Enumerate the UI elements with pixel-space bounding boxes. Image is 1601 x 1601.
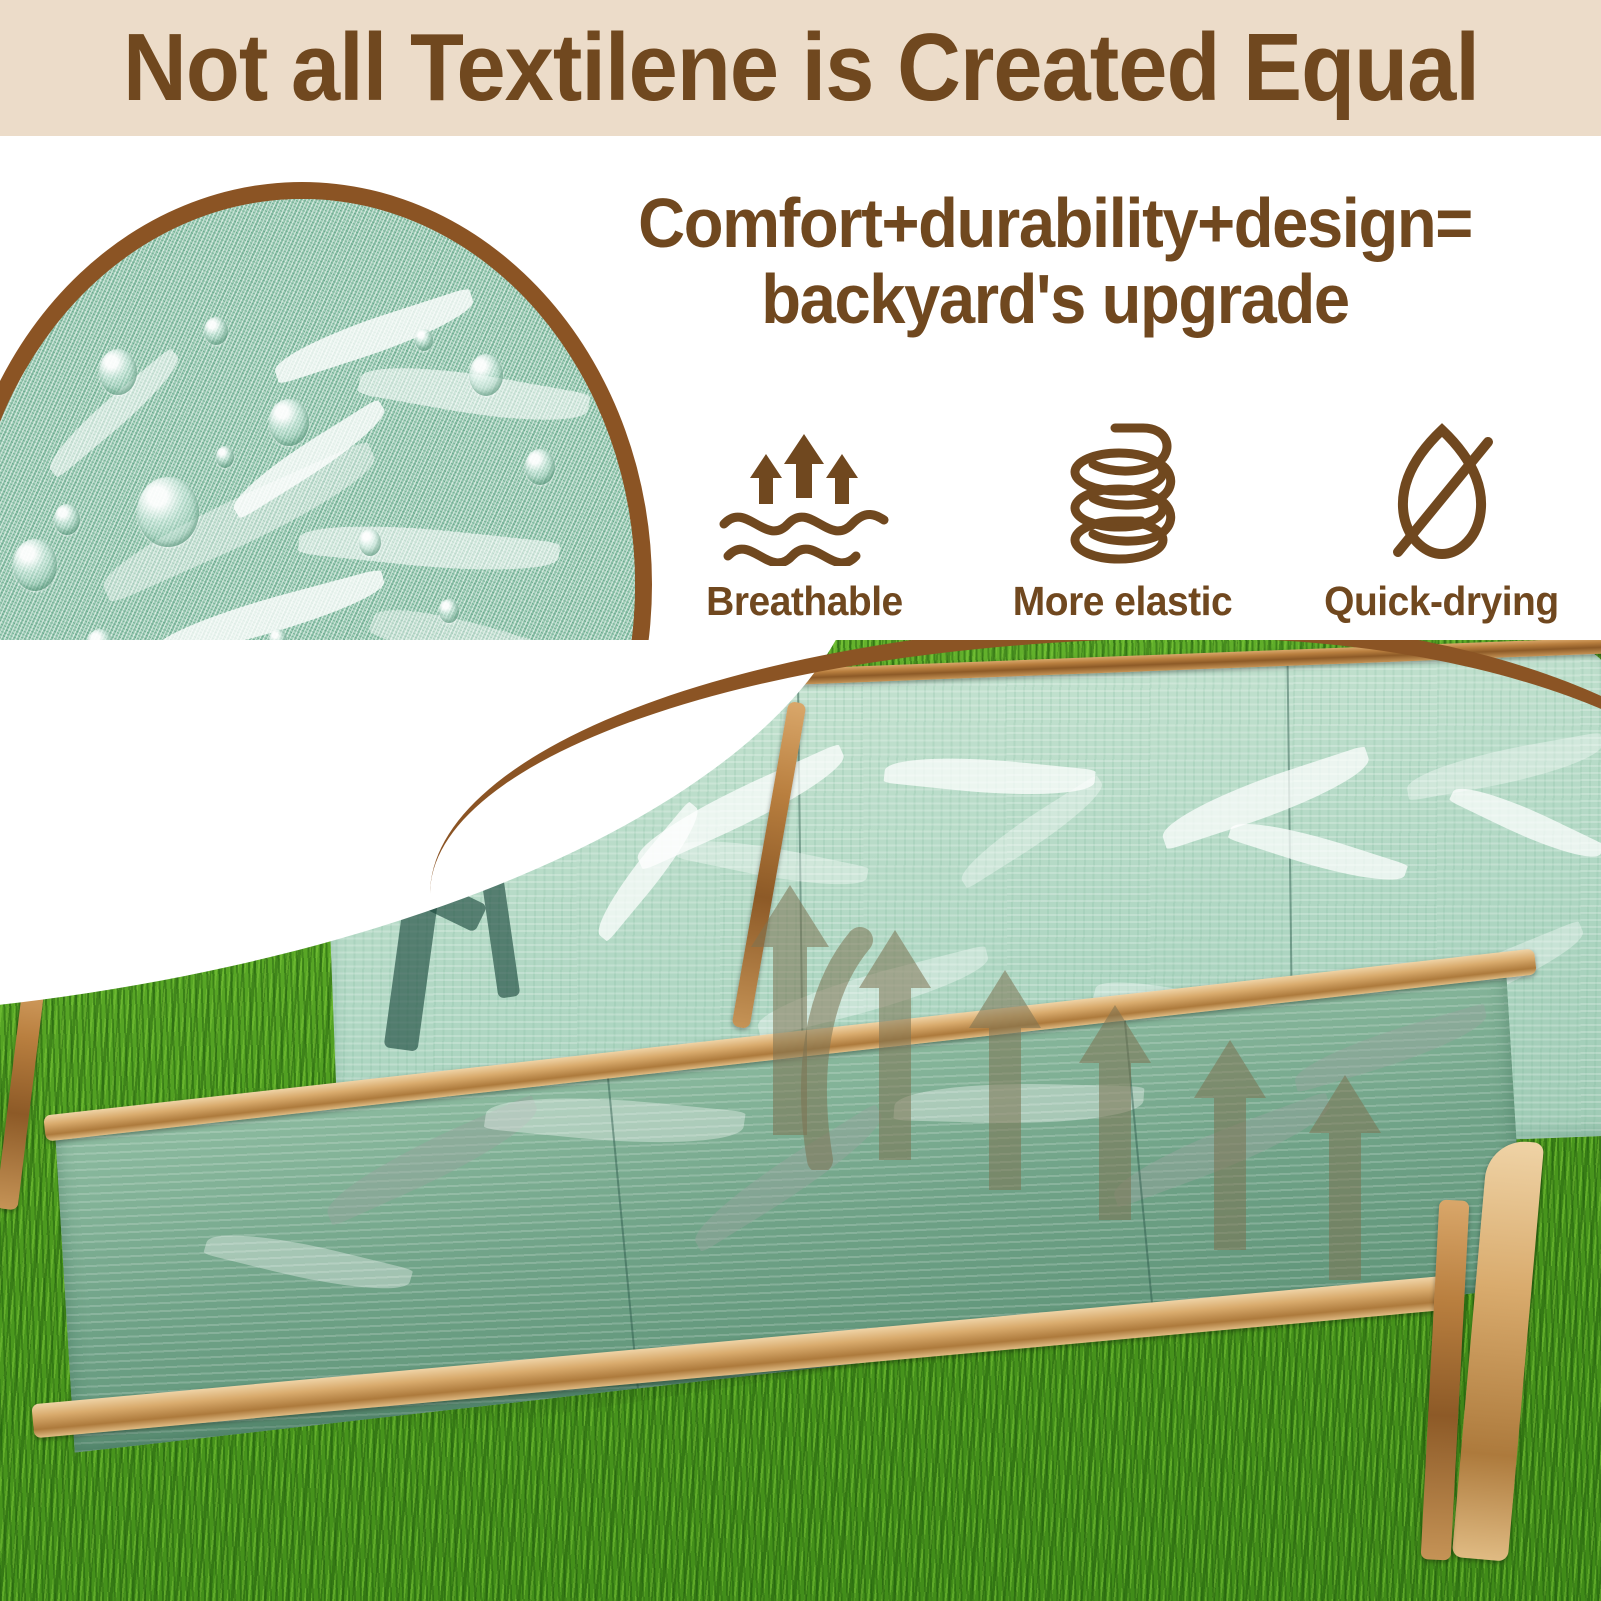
infographic-page: Not all Textilene is Created Equal Comfo… [0,0,1601,1601]
page-title: Not all Textilene is Created Equal [122,20,1478,116]
water-droplet [525,449,555,485]
water-droplet [469,354,503,396]
water-droplet [204,317,228,345]
feature-label: More elastic [1013,578,1232,625]
feature-list: Breathable More elastic [645,395,1601,625]
outdoor-bench-photo [0,640,1601,1601]
arrows-over-waves-icon [704,416,904,566]
water-droplet [415,329,433,351]
airflow-arrow [1075,1005,1155,1225]
feature-breathable: Breathable [654,416,954,625]
airflow-arrow-curved [800,870,980,1175]
water-droplet [439,599,459,623]
airflow-arrow [1305,1075,1385,1285]
leaf-motif [203,1221,413,1304]
water-droplet [99,349,137,395]
water-droplet [137,477,199,547]
airflow-arrow [1190,1040,1270,1255]
water-droplet [54,504,80,535]
water-droplet [13,539,57,591]
no-water-droplet-icon [1342,416,1542,566]
coil-spring-icon [1023,416,1223,566]
headline-line-2: backyard's upgrade [557,262,1552,338]
feature-label: Breathable [706,578,903,625]
feature-quick-drying: Quick-drying [1292,416,1592,625]
headline-line-1: Comfort+durability+design= [557,186,1552,262]
water-droplet [359,529,381,556]
water-droplet [216,446,234,468]
headline: Comfort+durability+design= backyard's up… [520,186,1590,337]
feature-label: Quick-drying [1324,578,1559,625]
water-droplet [269,399,309,446]
header-band: Not all Textilene is Created Equal [0,0,1601,136]
feature-more-elastic: More elastic [973,416,1273,625]
